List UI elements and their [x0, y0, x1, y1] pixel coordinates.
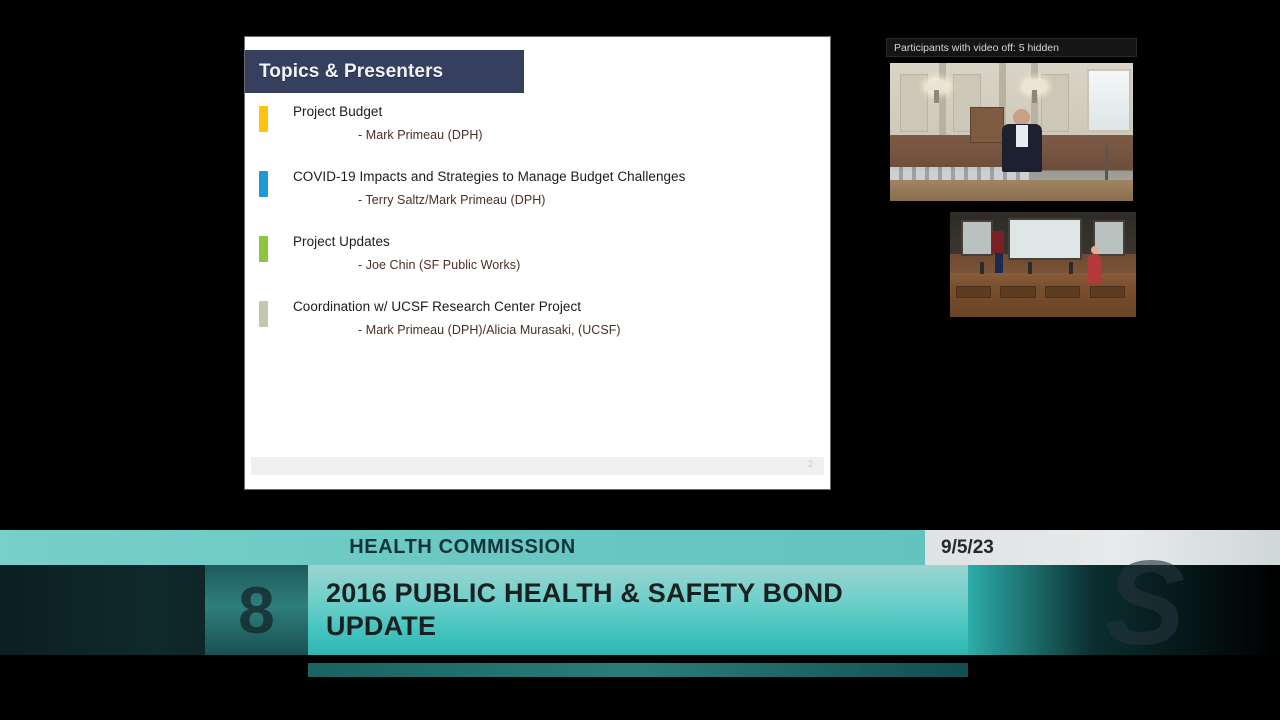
projection-screen — [1008, 218, 1082, 260]
speaker-figure — [1002, 109, 1042, 167]
participants-status-bar: Participants with video off: 5 hidden — [886, 38, 1137, 57]
agenda-item-number: 8 — [205, 565, 308, 655]
podium — [970, 107, 1004, 143]
desk-front — [890, 180, 1133, 201]
agenda-item-number-block: 8 — [205, 565, 308, 655]
topic-title: COVID-19 Impacts and Strategies to Manag… — [293, 168, 830, 186]
presentation-slide: Topics & Presenters Project Budget - Mar… — [245, 37, 830, 489]
video-frame-content — [890, 63, 1133, 201]
lower-third-graphic: Health Commission 9/5/23 8 2016 PUBLIC H… — [0, 530, 1280, 690]
date-bar: 9/5/23 — [925, 530, 1280, 565]
light-fixture-icon — [1024, 80, 1046, 92]
topic-presenter: - Mark Primeau (DPH) — [293, 126, 830, 144]
window — [1087, 69, 1131, 132]
slide-topic-list: Project Budget - Mark Primeau (DPH) COVI… — [245, 103, 830, 339]
topic-presenter: - Joe Chin (SF Public Works) — [293, 256, 830, 274]
list-item: Project Budget - Mark Primeau (DPH) — [245, 103, 830, 144]
slide-title: Topics & Presenters — [245, 61, 443, 83]
bullet-chip-green — [259, 236, 268, 262]
topic-presenter: - Mark Primeau (DPH)/Alicia Murasaki, (U… — [293, 321, 830, 339]
list-item: Coordination w/ UCSF Research Center Pro… — [245, 298, 830, 339]
slide-page-number: 2 — [808, 459, 813, 469]
light-fixture-icon — [926, 80, 948, 92]
list-item: COVID-19 Impacts and Strategies to Manag… — [245, 168, 830, 209]
flag — [995, 231, 1003, 277]
topic-title: Project Budget — [293, 103, 830, 121]
bullet-chip-blue — [259, 171, 268, 197]
bullet-chip-yellow — [259, 106, 268, 132]
bullet-chip-sage — [259, 301, 268, 327]
broadcast-date: 9/5/23 — [941, 530, 994, 565]
program-name: Health Commission — [0, 530, 925, 565]
slide-title-bar: Topics & Presenters — [245, 50, 524, 93]
program-name-bar: Health Commission — [0, 530, 925, 565]
topic-title: Coordination w/ UCSF Research Center Pro… — [293, 298, 830, 316]
topic-presenter: - Terry Saltz/Mark Primeau (DPH) — [293, 191, 830, 209]
slide-footer-band — [251, 457, 824, 475]
topic-title: Project Updates — [293, 233, 830, 251]
lower-third-accent-strip — [308, 663, 968, 677]
seated-person — [1088, 254, 1101, 283]
video-frame-content — [950, 212, 1136, 317]
commission-chamber-scene — [950, 212, 1136, 317]
agenda-title: 2016 PUBLIC HEALTH & SAFETY BOND UPDATE — [326, 577, 958, 643]
sfgovtv-logo-icon: S — [1105, 548, 1225, 658]
commission-dais-feed[interactable] — [946, 208, 1140, 321]
list-item: Project Updates - Joe Chin (SF Public Wo… — [245, 233, 830, 274]
dais — [950, 273, 1136, 317]
agenda-title-block: 2016 PUBLIC HEALTH & SAFETY BOND UPDATE — [308, 565, 968, 655]
participants-label: Participants with video off: 5 hidden — [887, 42, 1059, 54]
hearing-room-scene — [890, 63, 1133, 201]
broadcast-screen: Topics & Presenters Project Budget - Mar… — [0, 0, 1280, 720]
speaker-at-podium-feed[interactable] — [886, 59, 1137, 205]
